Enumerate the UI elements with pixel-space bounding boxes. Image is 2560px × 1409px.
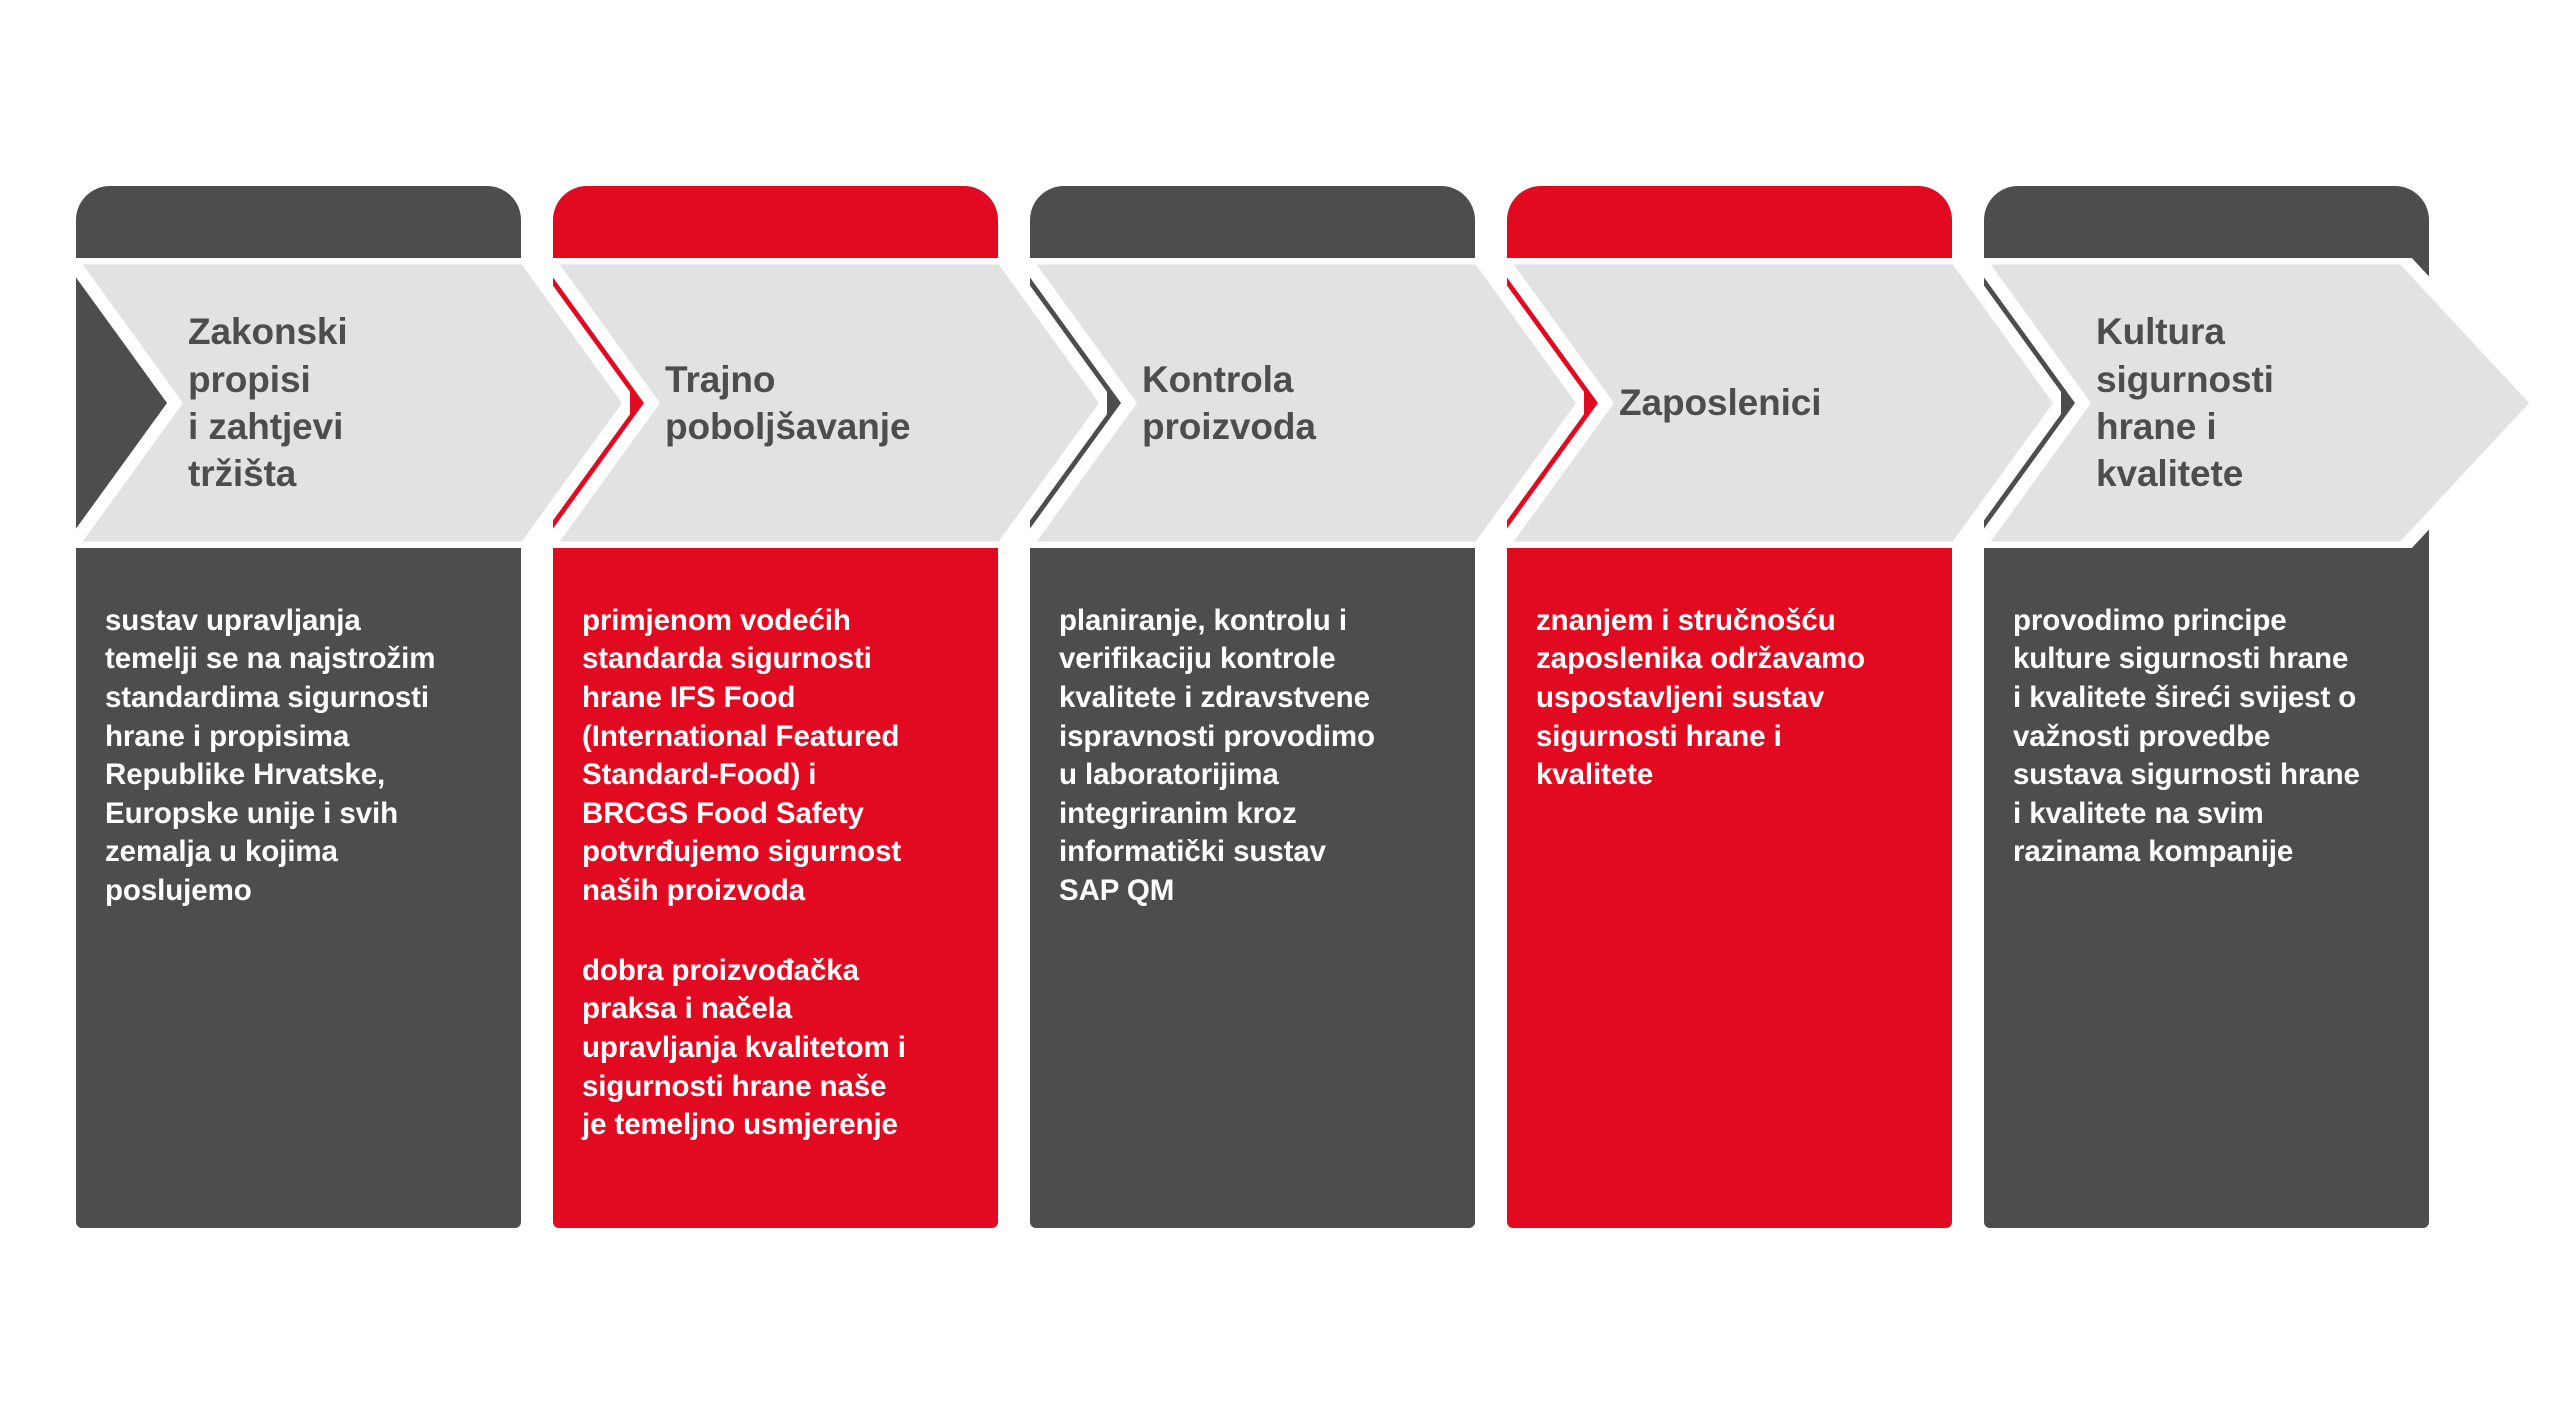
step-body-paragraph: planiranje, kontrolu i verifikaciju kont… (1059, 604, 1375, 907)
step-body-paragraph: provodimo principe kulture sigurnosti hr… (2013, 604, 2360, 869)
step-heading-2: Trajno poboljšavanje (665, 258, 1025, 548)
step-body-paragraph: znanjem i stručnošću zaposlenika održava… (1536, 604, 1865, 792)
process-flow-diagram: Zakonski propisi i zahtjevi tržišta Traj… (0, 0, 2560, 1409)
step-body-4: znanjem i stručnošću zaposlenika održava… (1536, 563, 1928, 795)
step-heading-5: Kultura sigurnosti hrane i kvalitete (2096, 258, 2456, 548)
step-body-paragraph: primjenom vodećih standarda sigurnosti h… (582, 604, 901, 907)
step-body-2: primjenom vodećih standarda sigurnosti h… (582, 563, 974, 1184)
step-header-5[interactable]: Kultura sigurnosti hrane i kvalitete (1978, 258, 2538, 548)
step-body-paragraph-2: dobra proizvođačka praksa i načela uprav… (582, 952, 974, 1145)
step-body-1: sustav upravljanja temelji se na najstro… (105, 563, 497, 911)
step-body-3: planiranje, kontrolu i verifikaciju kont… (1059, 563, 1451, 911)
step-heading-4: Zaposlenici (1619, 258, 1979, 548)
step-heading-1: Zakonski propisi i zahtjevi tržišta (188, 258, 548, 548)
step-header-2[interactable]: Trajno poboljšavanje (547, 258, 1107, 548)
step-header-4[interactable]: Zaposlenici (1501, 258, 2061, 548)
step-body-paragraph: sustav upravljanja temelji se na najstro… (105, 604, 435, 907)
step-header-3[interactable]: Kontrola proizvoda (1024, 258, 1584, 548)
step-heading-3: Kontrola proizvoda (1142, 258, 1502, 548)
step-body-5: provodimo principe kulture sigurnosti hr… (2013, 563, 2405, 872)
step-header-1[interactable]: Zakonski propisi i zahtjevi tržišta (70, 258, 630, 548)
